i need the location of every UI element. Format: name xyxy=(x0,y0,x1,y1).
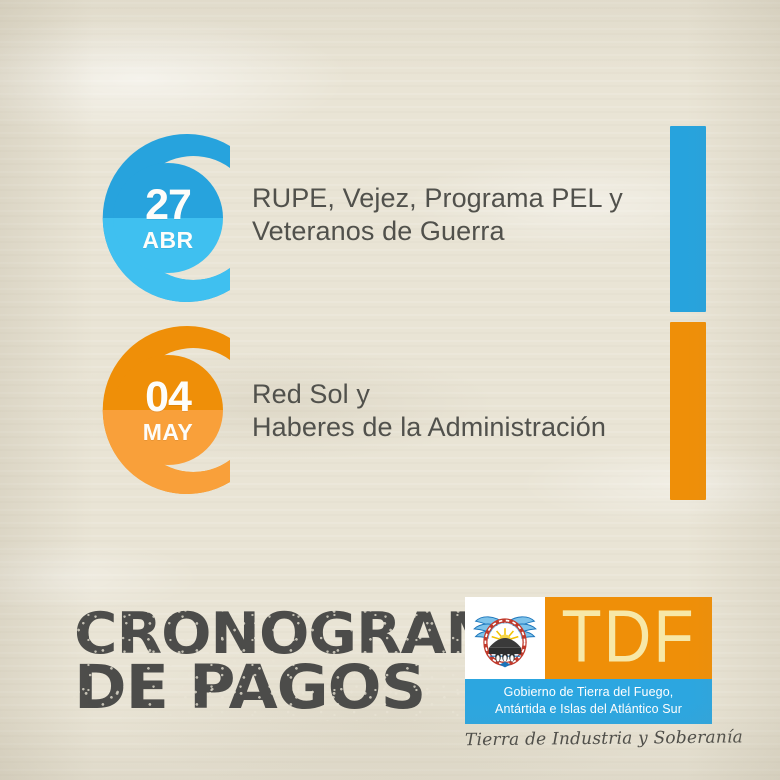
logo-caption-band: Gobierno de Tierra del Fuego, Antártida … xyxy=(465,679,712,724)
date-badge-text: 04 MAY xyxy=(113,355,223,465)
blue-bar xyxy=(670,126,706,312)
poster-canvas: 27 ABR RUPE, Vejez, Programa PEL y Veter… xyxy=(0,0,780,780)
date-day: 27 xyxy=(145,184,191,227)
date-month: MAY xyxy=(143,421,194,444)
logo-acronym-panel: TDF xyxy=(545,597,712,679)
logo-top-row: TDF xyxy=(465,597,712,679)
government-logo: TDF Gobierno de Tierra del Fuego, Antárt… xyxy=(465,597,712,724)
orange-bar xyxy=(670,322,706,500)
date-month: ABR xyxy=(142,229,193,252)
schedule-description-line-2: Veteranos de Guerra xyxy=(252,215,652,248)
date-badge-text: 27 ABR xyxy=(113,163,223,273)
date-day: 04 xyxy=(145,376,191,419)
logo-tagline: Tierra de Industria y Soberanía xyxy=(465,728,712,751)
schedule-description-line-1: Red Sol y xyxy=(252,378,652,411)
schedule-description: Red Sol y Haberes de la Administración xyxy=(252,378,652,444)
schedule-description-line-2: Haberes de la Administración xyxy=(252,411,652,444)
coat-of-arms-icon xyxy=(470,603,540,673)
logo-caption-line-2: Antártida e Islas del Atlántico Sur xyxy=(469,701,708,718)
date-badge: 27 ABR xyxy=(72,122,264,314)
schedule-description-line-1: RUPE, Vejez, Programa PEL y xyxy=(252,182,652,215)
logo-acronym: TDF xyxy=(561,604,695,671)
date-badge: 04 MAY xyxy=(72,314,264,506)
logo-caption-line-1: Gobierno de Tierra del Fuego, xyxy=(469,684,708,701)
page-title: CRONOGRAMA DE PAGOS xyxy=(74,608,530,717)
logo-crest-panel xyxy=(465,597,545,679)
schedule-description: RUPE, Vejez, Programa PEL y Veteranos de… xyxy=(252,182,652,248)
